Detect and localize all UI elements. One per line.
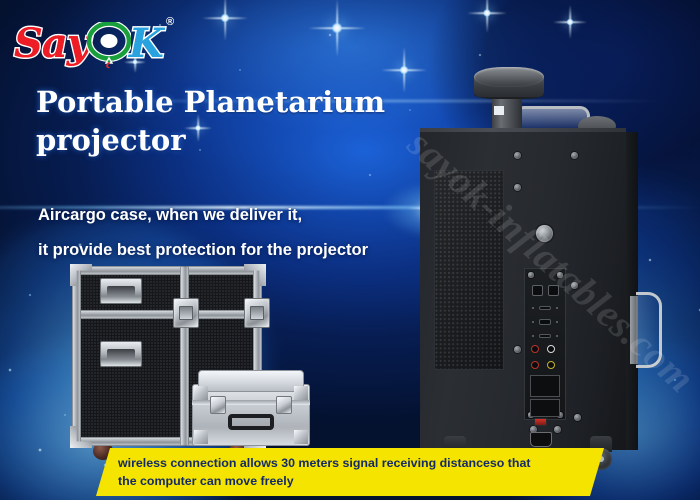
case-recessed-handle <box>100 278 142 304</box>
panel-screw <box>514 184 521 191</box>
panel-screw <box>514 152 521 159</box>
silver-case-handle <box>228 414 274 430</box>
silver-case-corner <box>194 386 208 400</box>
subheadline-line-1: Aircargo case, when we deliver it, <box>38 198 458 233</box>
rca-jack-red[interactable] <box>531 345 539 353</box>
side-carry-handle[interactable] <box>636 292 662 368</box>
rca-jack-red[interactable] <box>531 361 539 369</box>
io-indicator-dot <box>532 307 534 309</box>
silver-case-corner <box>294 386 308 400</box>
silver-case-corner <box>294 430 308 444</box>
io-connector-panel[interactable] <box>524 268 566 420</box>
ventilation-mesh-grille <box>434 170 504 370</box>
panel-screw <box>571 152 578 159</box>
panel-screw <box>571 282 578 289</box>
io-hdmi-port[interactable] <box>539 334 551 338</box>
silver-case-latch <box>276 396 292 414</box>
io-indicator-dot <box>556 307 558 309</box>
io-indicator-dot <box>532 321 534 323</box>
headline-line-1: Portable Planetarium <box>36 83 456 121</box>
io-indicator-dot <box>532 335 534 337</box>
io-panel-screw <box>557 272 563 278</box>
io-terminal-block[interactable] <box>530 375 560 397</box>
planetarium-projector-unit <box>418 60 700 460</box>
panel-screw <box>554 426 561 433</box>
projector-lock-cap[interactable] <box>536 225 553 242</box>
promotional-banner-image: Say Say K K ® Portable Planetarium proje… <box>0 0 700 500</box>
projector-label-tag <box>494 106 504 115</box>
case-latch <box>173 298 199 328</box>
silver-case-latch <box>210 396 226 414</box>
rca-jack-white[interactable] <box>547 345 555 353</box>
logo-text-say: Say <box>14 20 89 67</box>
flight-cases-group <box>60 258 310 463</box>
projector-top-edge <box>420 128 626 132</box>
case-rail-top <box>72 266 262 275</box>
io-indicator-dot <box>556 321 558 323</box>
io-rj45-port[interactable] <box>532 285 543 296</box>
projector-dome-lens <box>474 67 544 87</box>
logo-text-k: K <box>129 20 164 67</box>
power-inlet-socket[interactable] <box>530 432 552 447</box>
headline-line-2: projector <box>36 121 456 159</box>
case-rail-center <box>180 266 189 446</box>
case-rail-left <box>72 266 81 446</box>
balloon-o-icon <box>87 22 131 68</box>
headline: Portable Planetarium projector <box>36 83 456 159</box>
power-switch[interactable] <box>534 418 547 426</box>
io-rj45-port[interactable] <box>548 285 559 296</box>
silver-case-lid <box>198 370 304 392</box>
callout-line-1: wireless connection allows 30 meters sig… <box>118 454 588 472</box>
case-rail-middle <box>72 310 262 319</box>
io-vga-port[interactable] <box>539 319 551 325</box>
io-terminal-block[interactable] <box>530 399 560 417</box>
projector-side-face <box>626 132 638 450</box>
sayok-brand-logo[interactable]: Say Say K K ® <box>14 14 189 68</box>
yellow-callout-text: wireless connection allows 30 meters sig… <box>118 454 588 490</box>
registered-trademark-icon: ® <box>166 16 174 28</box>
silver-aluminum-case <box>192 370 310 446</box>
panel-screw <box>514 346 521 353</box>
case-latch <box>244 298 270 328</box>
io-usb-port[interactable] <box>539 306 551 310</box>
silver-case-corner <box>194 430 208 444</box>
case-recessed-handle <box>100 341 142 367</box>
io-panel-screw <box>528 272 534 278</box>
callout-line-2: the computer can move freely <box>118 472 588 490</box>
io-indicator-dot <box>556 335 558 337</box>
panel-screw <box>574 414 581 421</box>
rca-jack-yellow[interactable] <box>547 361 555 369</box>
